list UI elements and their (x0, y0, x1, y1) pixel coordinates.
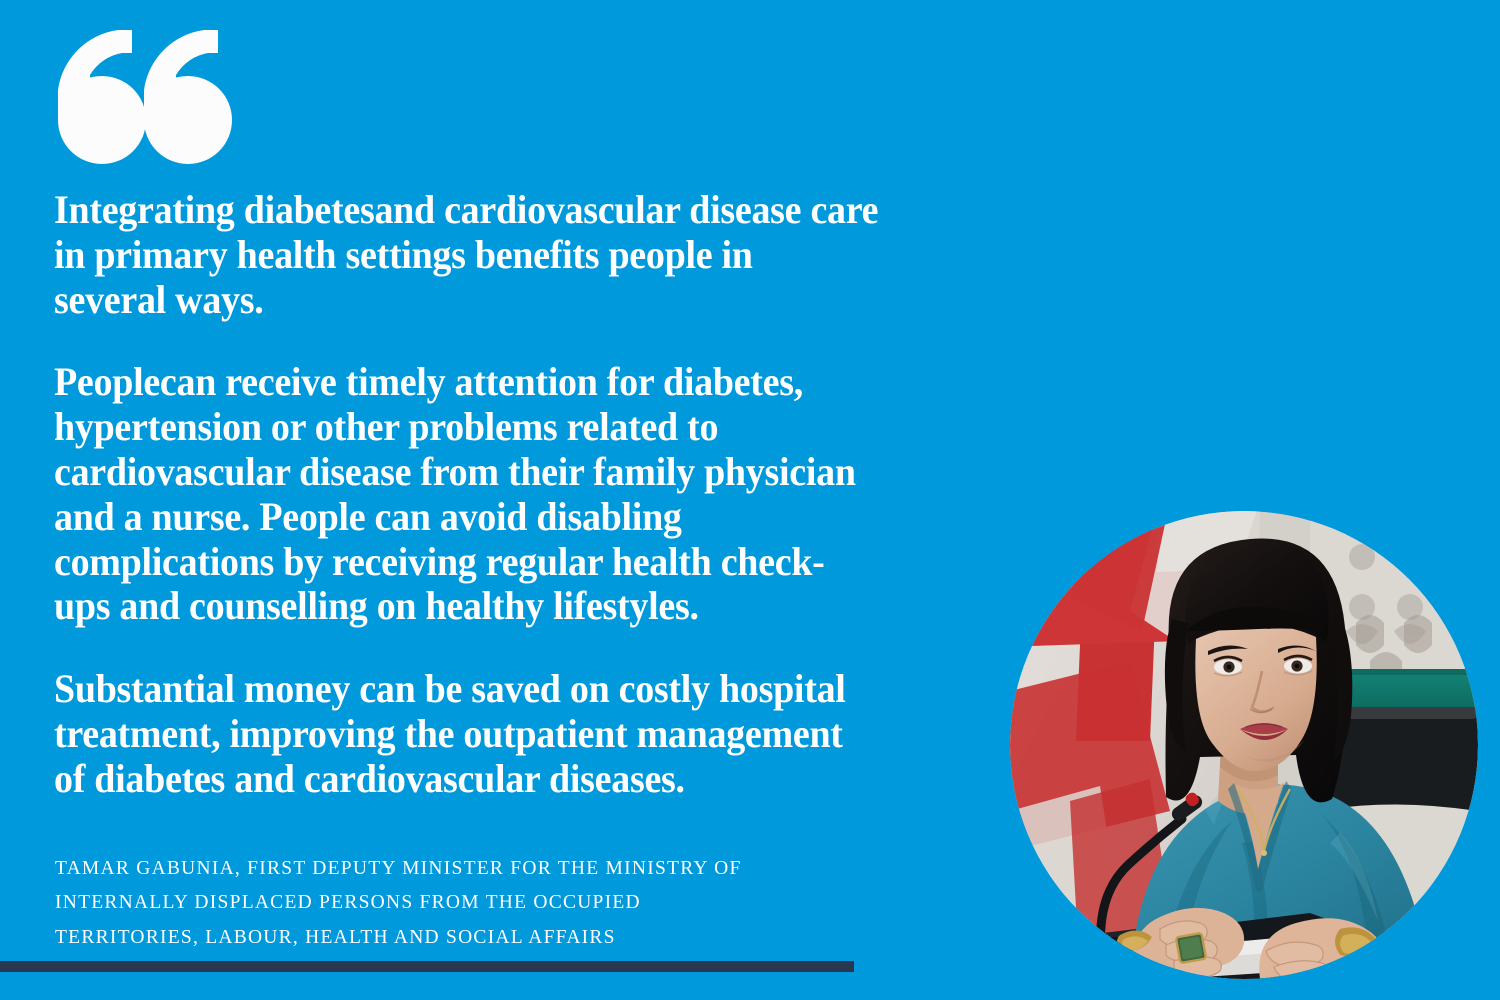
open-quote-icon (52, 18, 232, 168)
portrait-photo (1010, 511, 1478, 979)
quote-card-canvas: Integrating diabetesand cardiovascular d… (0, 0, 1500, 1000)
footer-rule-bar (0, 961, 854, 972)
quote-attribution: Tamar Gabunia, First Deputy Minister for… (55, 852, 935, 955)
quote-text-block: Integrating diabetesand cardiovascular d… (54, 188, 1014, 802)
quote-paragraph-2: Peoplecan receive timely attention for d… (54, 360, 966, 629)
quote-paragraph-1: Integrating diabetesand cardiovascular d… (54, 188, 966, 322)
quote-paragraph-3: Substantial money can be saved on costly… (54, 667, 966, 801)
